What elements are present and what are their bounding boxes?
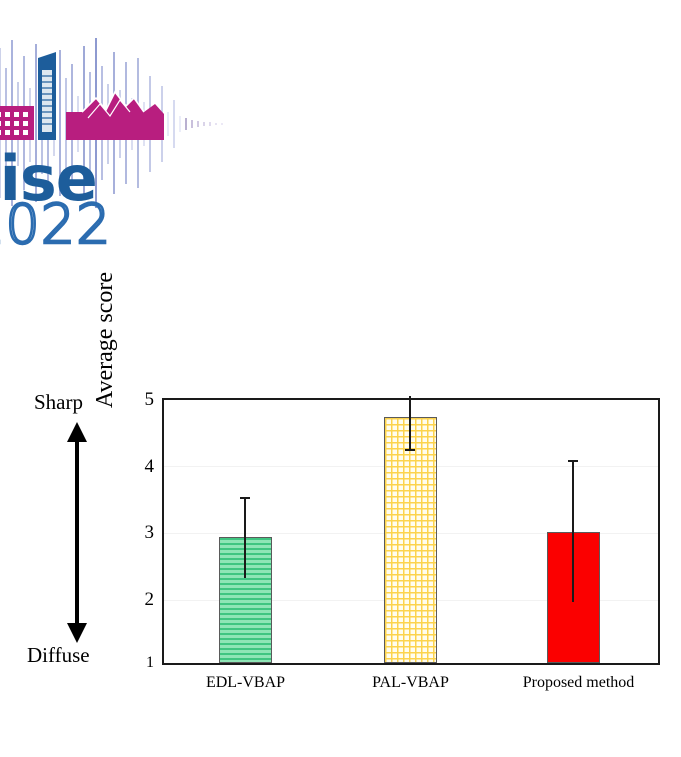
y-tick-label-5: 5 xyxy=(128,390,154,409)
bar-pal-vbap[interactable] xyxy=(384,417,437,663)
error-bar-edl-vbap xyxy=(244,498,246,578)
x-tick-label-edl-vbap: EDL-VBAP xyxy=(178,675,313,691)
error-cap-top-edl-vbap xyxy=(240,497,250,499)
y-axis-title: Average score xyxy=(92,230,118,450)
plot-area xyxy=(162,398,660,665)
y-axis-title-text: Average score xyxy=(92,230,118,450)
y-tick-label-3: 3 xyxy=(128,523,154,542)
y-tick-label-1: 1 xyxy=(128,655,154,671)
x-tick-label-proposed-method: Proposed method xyxy=(506,675,651,691)
error-cap-bottom-pal-vbap xyxy=(405,449,415,451)
double-headed-arrow-icon xyxy=(62,420,92,645)
y-tick-label-2: 2 xyxy=(128,590,154,609)
average-score-bar-chart: Sharp Diffuse Average score 5 4 3 2 1 xyxy=(0,0,681,757)
y-tick-label-4: 4 xyxy=(128,457,154,476)
axis-annotation-top-label: Sharp xyxy=(34,392,83,413)
x-tick-label-pal-vbap: PAL-VBAP xyxy=(343,675,478,691)
error-bar-proposed-method xyxy=(572,461,574,602)
error-bar-pal-vbap xyxy=(409,396,411,450)
error-cap-top-proposed-method xyxy=(568,460,578,462)
axis-annotation-bottom-label: Diffuse xyxy=(27,645,90,666)
